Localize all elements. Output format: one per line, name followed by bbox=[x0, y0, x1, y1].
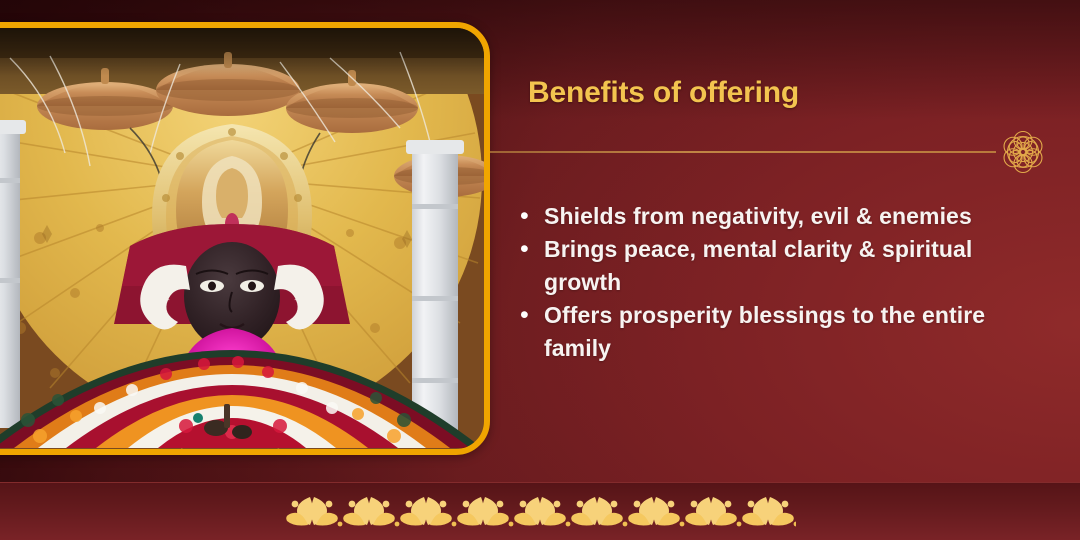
title-divider-rule bbox=[490, 151, 996, 153]
benefits-list: • Shields from negativity, evil & enemie… bbox=[516, 200, 996, 365]
page-title: Benefits of offering bbox=[528, 76, 799, 110]
list-item: • Brings peace, mental clarity & spiritu… bbox=[516, 233, 996, 299]
list-item-label: Brings peace, mental clarity & spiritual… bbox=[544, 233, 996, 299]
lotus-border-svg bbox=[286, 494, 796, 528]
bullet-dot-icon: • bbox=[516, 200, 544, 233]
list-item: • Shields from negativity, evil & enemie… bbox=[516, 200, 996, 233]
deity-photo: #d9a93c bbox=[0, 28, 484, 449]
deity-photo-illustration: #d9a93c bbox=[0, 28, 484, 449]
mandala-rosette-icon bbox=[996, 125, 1050, 179]
bullet-dot-icon: • bbox=[516, 299, 544, 332]
list-item-label: Shields from negativity, evil & enemies bbox=[544, 200, 996, 233]
lotus-border-strip bbox=[286, 494, 796, 528]
bullet-dot-icon: • bbox=[516, 233, 544, 266]
deity-photo-frame: #d9a93c bbox=[0, 22, 490, 455]
slide-root: #d9a93c bbox=[0, 0, 1080, 540]
list-item: • Offers prosperity blessings to the ent… bbox=[516, 299, 996, 365]
list-item-label: Offers prosperity blessings to the entir… bbox=[544, 299, 996, 365]
